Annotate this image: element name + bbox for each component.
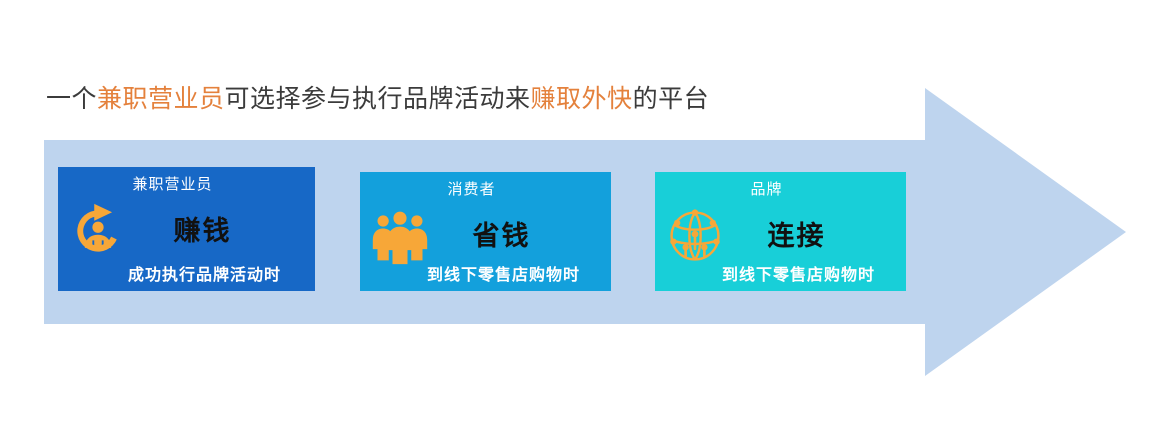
card-caption-label: 到线下零售店购物时 [378, 261, 629, 285]
card-value-label: 省钱 [376, 214, 627, 253]
card-consumer[interactable]: 消费者 省钱 到线下零售店购物时 [360, 172, 611, 291]
card-value-label: 连接 [671, 214, 922, 253]
card-header-label: 品牌 [641, 178, 892, 199]
card-brand[interactable]: 品牌 [655, 172, 906, 291]
card-value-label: 赚钱 [74, 209, 331, 248]
slide-canvas: 一个兼职营业员可选择参与执行品牌活动来赚取外快的平台 兼职营业员 赚钱 成功执行… [0, 0, 1150, 430]
card-caption-label: 到线下零售店购物时 [673, 261, 924, 285]
card-caption-label: 成功执行品牌活动时 [76, 261, 333, 285]
card-header-label: 兼职营业员 [44, 173, 301, 194]
card-header-label: 消费者 [346, 178, 597, 199]
card-part-time-salesperson[interactable]: 兼职营业员 赚钱 成功执行品牌活动时 [58, 167, 315, 291]
